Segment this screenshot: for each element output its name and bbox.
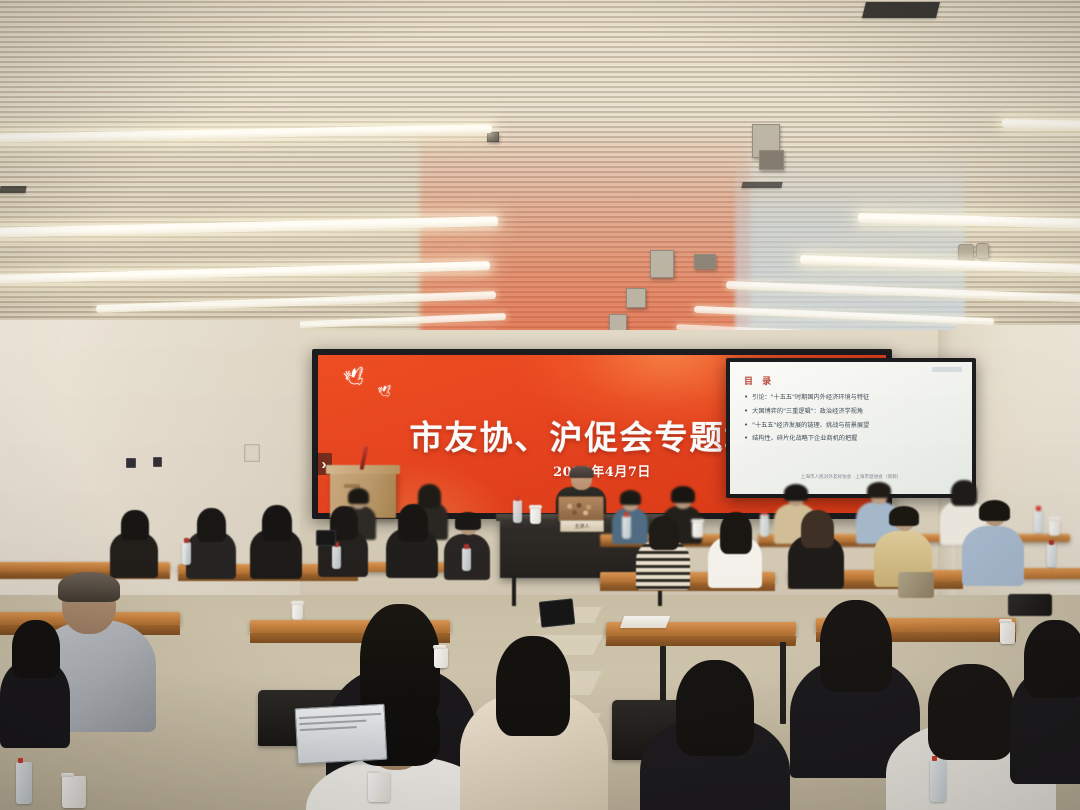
person-hair [1024,620,1080,698]
audience-person [708,512,762,584]
slide-footer-text: 上海市人民对外友好协会 · 上海市促进会（简称） [730,474,972,480]
ceiling-speaker-device [487,132,499,142]
ceiling [0,0,1080,352]
slide-content: 目 录 • 引论："十五五"时期国内外经济环境与特征 • 大国博弈的"三重逻辑"… [730,362,972,494]
person-hair [820,600,892,692]
slide-bullet-text: 结构性、碎片化战略下企业商机的把握 [752,435,857,443]
dove-icon: 🕊 [377,386,392,399]
tablet-device [316,530,336,546]
person-hair [671,486,695,503]
person-hair [676,660,754,756]
ceiling-speaker-device [976,243,989,259]
audience-person [874,506,932,582]
dove-icon: 🕊 [342,367,367,389]
lidded-tea-mug [62,776,86,808]
table-leg [512,576,516,606]
audience-person [636,516,690,586]
lidded-tea-mug [1000,622,1015,644]
slide-bullet-text: "十五五"经济发展的链理、挑战与前景展望 [752,422,869,430]
person-hair [620,490,641,505]
person-hair [496,636,570,736]
slide-bullet-item: • 引论："十五五"时期国内外经济环境与特征 [744,394,960,402]
bullet-dot-icon: • [744,394,748,401]
person-hair [12,620,60,678]
slide-bullet-text: 大国博弈的"三重逻辑"：政治经济学视角 [752,408,863,416]
ceiling-light-strip [0,261,490,284]
audience-person [0,620,70,740]
person-hair [121,510,149,540]
lidded-tea-mug [434,648,448,668]
bullet-dot-icon: • [744,435,748,442]
water-bottle [16,762,32,804]
wall-outlet-plate [126,458,136,468]
ceiling-vent [862,2,940,18]
water-bottle [513,500,522,523]
person-hair [398,504,428,542]
laptop-screen-text [299,720,366,725]
water-bottle [182,542,191,565]
water-bottle [1034,510,1043,533]
water-bottle [462,548,471,571]
bullet-dot-icon: • [744,408,748,415]
side-presentation-screen: 目 录 • 引论："十五五"时期国内外经济环境与特征 • 大国博弈的"三重逻辑"… [726,358,976,498]
slide-bullet-item: • 结构性、碎片化战略下企业商机的把握 [744,435,960,443]
ceiling-vent [0,186,27,193]
slide-bullet-text: 引论："十五五"时期国内外经济环境与特征 [752,394,869,402]
lidded-tea-mug [692,522,703,538]
water-bottle [930,760,946,802]
ceiling-speaker-device [650,250,674,278]
wall-control-panel [244,444,260,462]
audience-person [186,508,236,574]
tablet-device [539,598,576,627]
ceiling-speaker-device [958,244,974,262]
person-hair [197,508,226,542]
person-hair [801,510,834,548]
water-bottle [332,546,341,569]
person-hair [649,516,679,550]
lidded-tea-mug [292,604,303,620]
person-hair [867,482,891,498]
handbag [1008,594,1052,616]
conference-hall-photo: 🕊 🕊 市友协、沪促会专题培训 2025年4月7日 › 目 录 • 引论："十五… [0,0,1080,810]
slide-bullet-item: • "十五五"经济发展的链理、挑战与前景展望 [744,422,960,430]
person-hair [720,512,752,554]
person-hair [348,488,369,504]
wall-outlet-plate [153,457,162,467]
audience-person [962,500,1024,582]
presenter-name-plate: 主讲人 [560,520,604,532]
audience-person [1010,620,1080,770]
slide-bullet-item: • 大国博弈的"三重逻辑"：政治经济学视角 [744,408,960,416]
ceiling-vent [741,182,782,188]
audience-person [386,504,438,574]
presenter-hair [569,466,594,478]
person-torso [962,526,1024,586]
water-bottle [1047,544,1056,567]
ceiling-speaker-device [759,150,784,170]
laptop-screen-text [299,713,381,719]
ceiling-light-strip [1002,119,1080,130]
lidded-tea-mug [530,508,541,524]
handbag [898,572,934,598]
laptop-screen-text [300,726,357,730]
desk-apron [606,636,797,646]
audience-person [110,510,158,574]
person-hair [262,505,292,541]
slide-heading: 目 录 [744,374,960,387]
person-hair [928,664,1014,760]
lidded-tea-mug [368,772,390,802]
presenter-laptop [558,496,604,522]
lidded-tea-mug [1049,520,1060,536]
laptop-computer [295,704,388,765]
bullet-dot-icon: • [744,422,748,429]
person-hair [889,506,919,526]
person-hair [58,572,120,602]
slide-toolbar-badge [932,367,962,372]
ceiling-speaker-device [694,254,716,269]
ceiling-speaker-device [626,288,646,308]
audience-person [460,636,608,810]
paper-handout [620,616,670,628]
audience-person [640,660,790,810]
ceiling-light-strip [0,124,492,143]
audience-person [250,505,302,575]
water-bottle [622,516,631,539]
person-hair [784,484,808,501]
person-hair [979,500,1010,521]
audience-person [788,510,844,584]
person-hair [455,512,481,530]
